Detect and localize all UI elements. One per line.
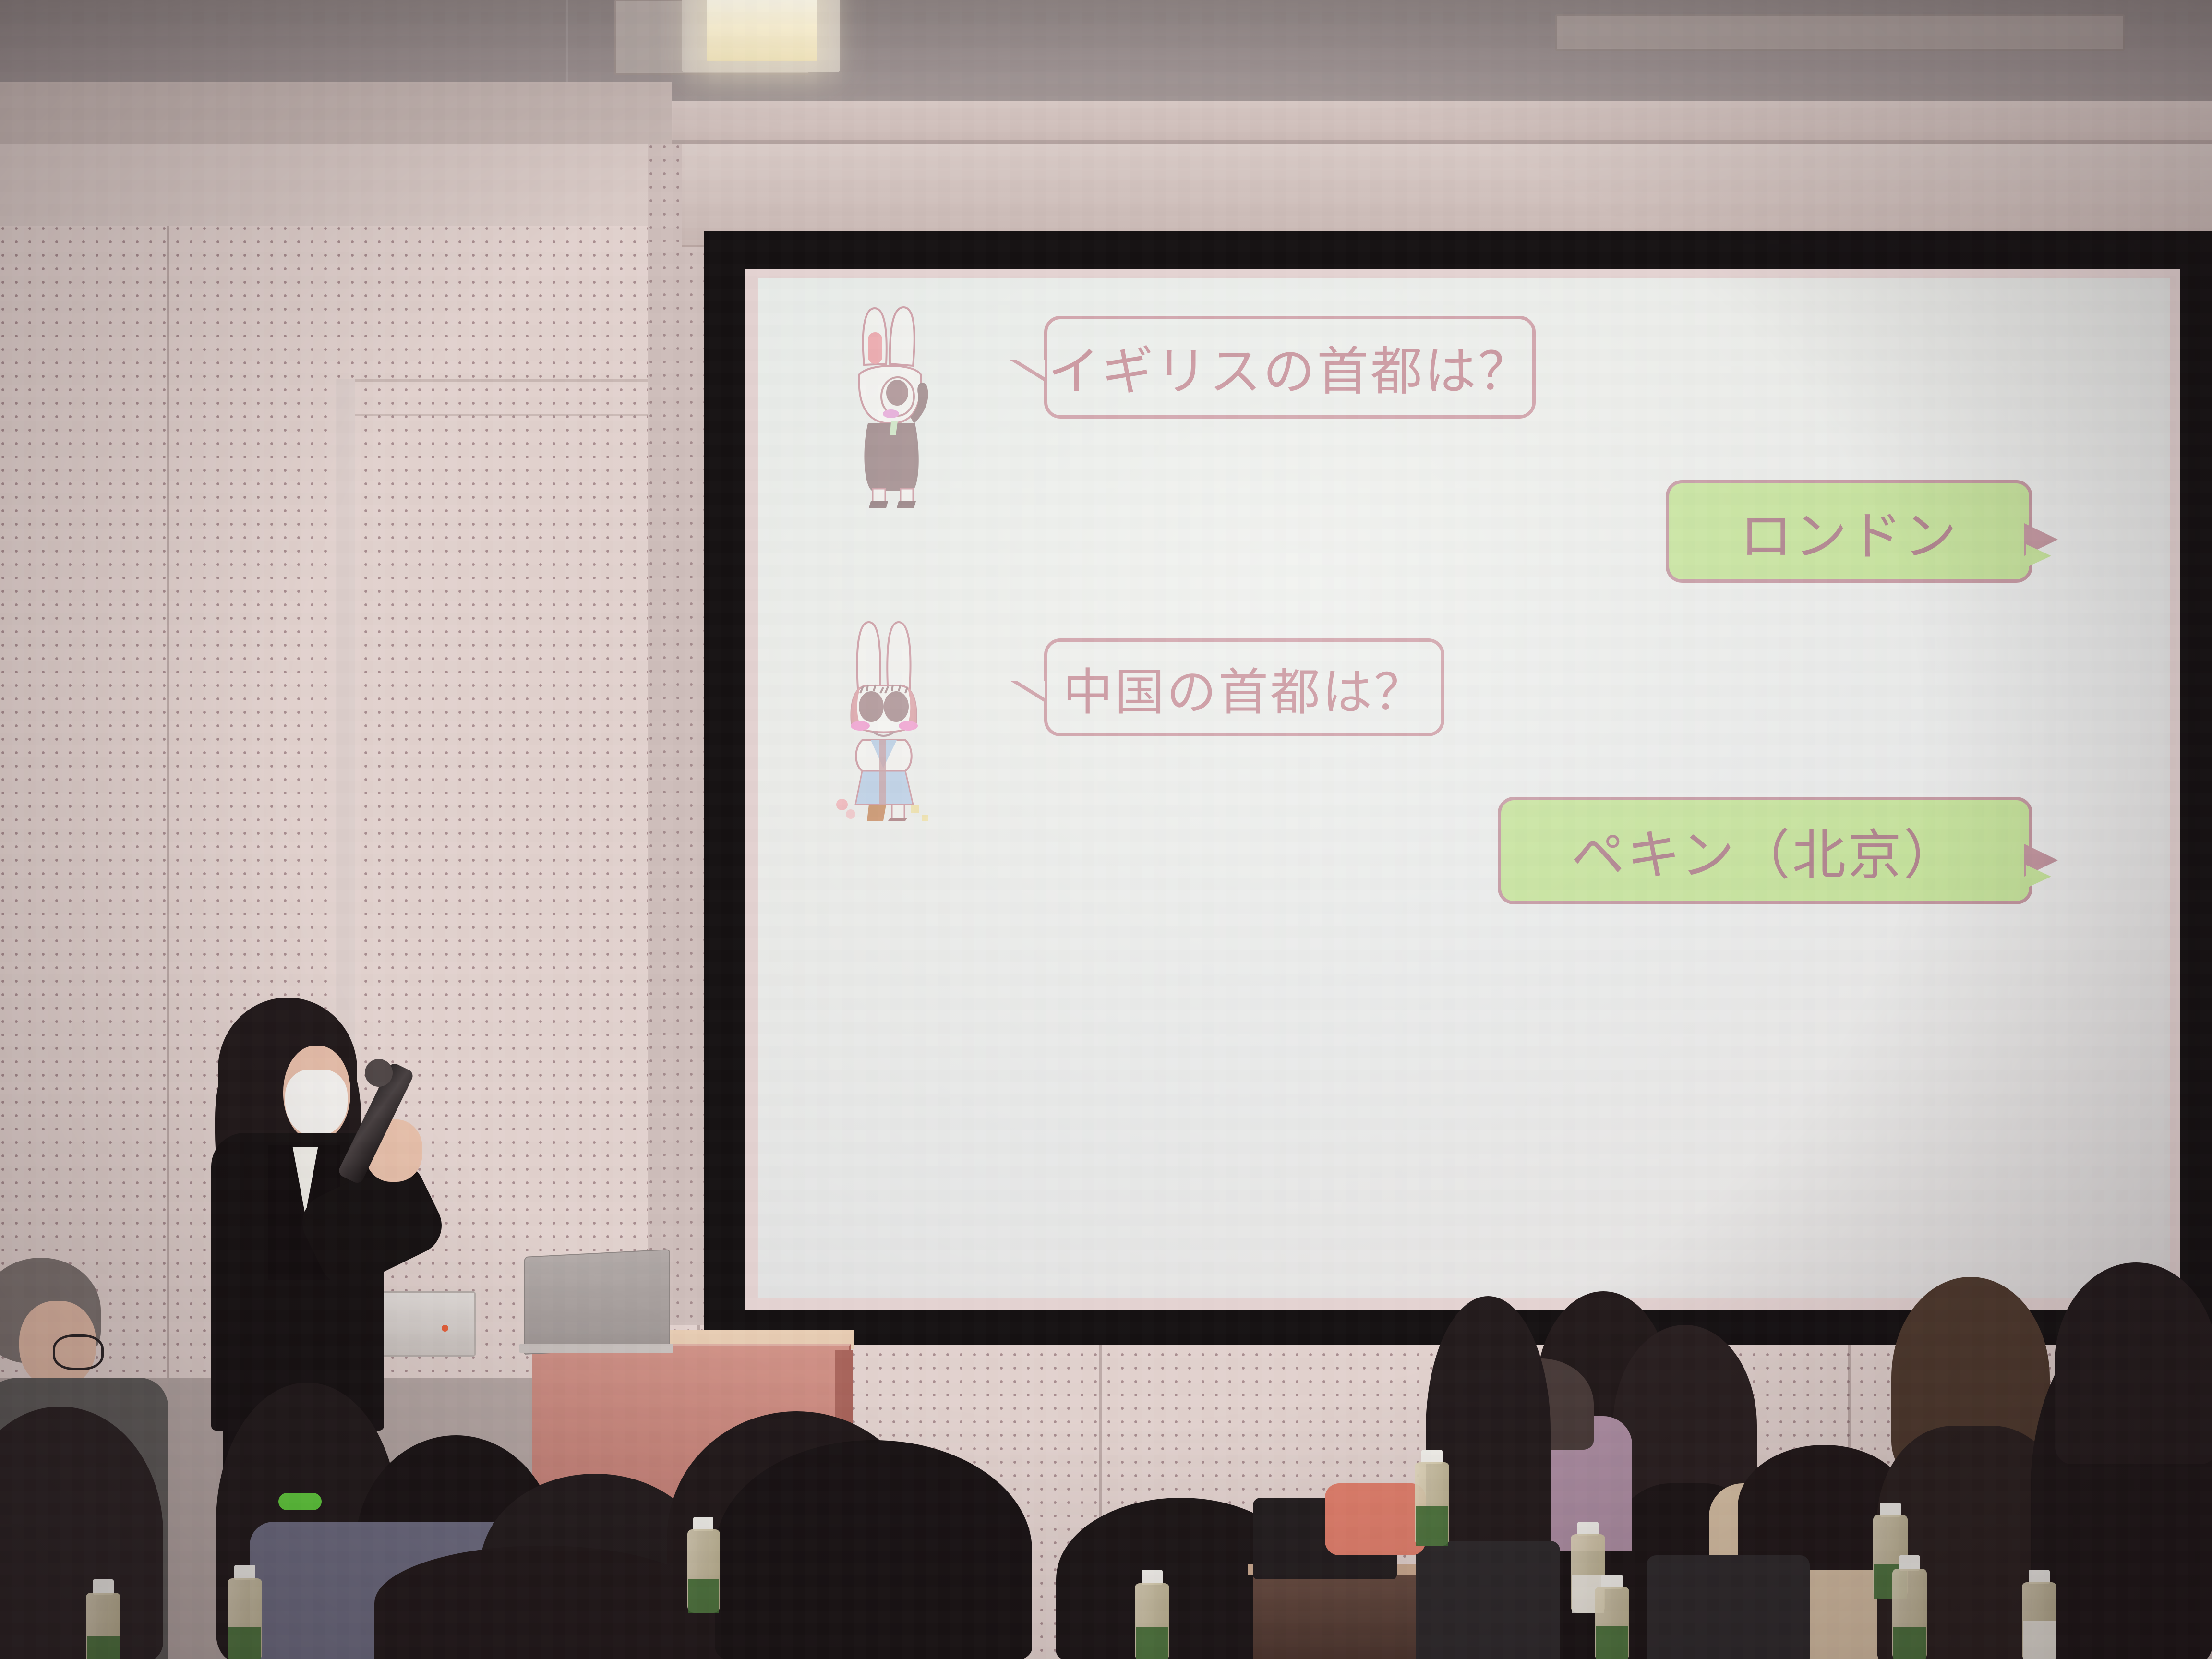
drink-bottle[interactable] <box>84 1579 121 1659</box>
rabbit-character-2 <box>835 614 931 821</box>
microphone-head <box>365 1059 393 1087</box>
answer-bubble-london: ロンドン <box>1666 480 2032 583</box>
ceiling-soffit <box>566 101 2212 144</box>
drink-bottle[interactable] <box>686 1517 721 1613</box>
answer-text-beijing: ペキン（北京） <box>1571 812 1960 890</box>
eyeglasses <box>53 1334 104 1370</box>
drink-bottle[interactable] <box>226 1565 263 1659</box>
audience-hair <box>2055 1262 2212 1464</box>
projection-surface: イギリスの首都は？ ロンドン <box>758 278 2170 1298</box>
rabbit-2-illustration <box>835 614 931 821</box>
laptop-lid[interactable] <box>524 1249 670 1355</box>
drink-bottle[interactable] <box>1594 1575 1630 1659</box>
face-mask <box>285 1070 348 1137</box>
answer-text-london: ロンドン <box>1740 493 1959 570</box>
audience-member-center-2 <box>715 1440 1032 1659</box>
drink-bottle[interactable] <box>2021 1570 2057 1659</box>
pencil-case <box>1325 1483 1426 1555</box>
question-bubble-china: 中国の首都は？ <box>1044 638 1444 736</box>
audience-hair <box>0 1407 163 1659</box>
question-bubble-uk-tail <box>1010 360 1046 382</box>
audience-hair <box>715 1440 1032 1659</box>
hair-tie-green <box>278 1493 322 1510</box>
panel-seam <box>345 379 700 382</box>
chair-back <box>1647 1555 1810 1659</box>
ceiling-light <box>707 0 817 61</box>
answer-bubble-london-tail <box>2024 523 2058 556</box>
question-bubble-china-tail <box>1010 681 1046 703</box>
rabbit-character-1 <box>850 302 936 509</box>
laptop-base <box>519 1344 673 1353</box>
slide-content: イギリスの首都は？ ロンドン <box>758 278 2170 1298</box>
question-text-china: 中国の首都は？ <box>1063 651 1426 724</box>
question-text-uk: イギリスの首都は？ <box>1048 330 1532 405</box>
question-bubble-uk: イギリスの首都は？ <box>1044 316 1536 419</box>
audience-member-far-right <box>2055 1262 2212 1464</box>
ceiling-duct <box>1555 14 2125 51</box>
answer-bubble-beijing: ペキン（北京） <box>1498 797 2032 904</box>
drink-bottle[interactable] <box>1891 1555 1928 1659</box>
rabbit-1-illustration <box>850 302 936 509</box>
drink-bottle[interactable] <box>1414 1450 1450 1546</box>
screenshot-root: イギリスの首都は？ ロンドン <box>0 0 2212 1659</box>
chair-back <box>1416 1541 1560 1659</box>
answer-bubble-beijing-tail <box>2024 844 2058 877</box>
drink-bottle[interactable] <box>1133 1570 1170 1659</box>
audience-hair <box>374 1546 710 1659</box>
panel-seam <box>167 226 169 1378</box>
audience-member-center-3 <box>374 1546 710 1659</box>
